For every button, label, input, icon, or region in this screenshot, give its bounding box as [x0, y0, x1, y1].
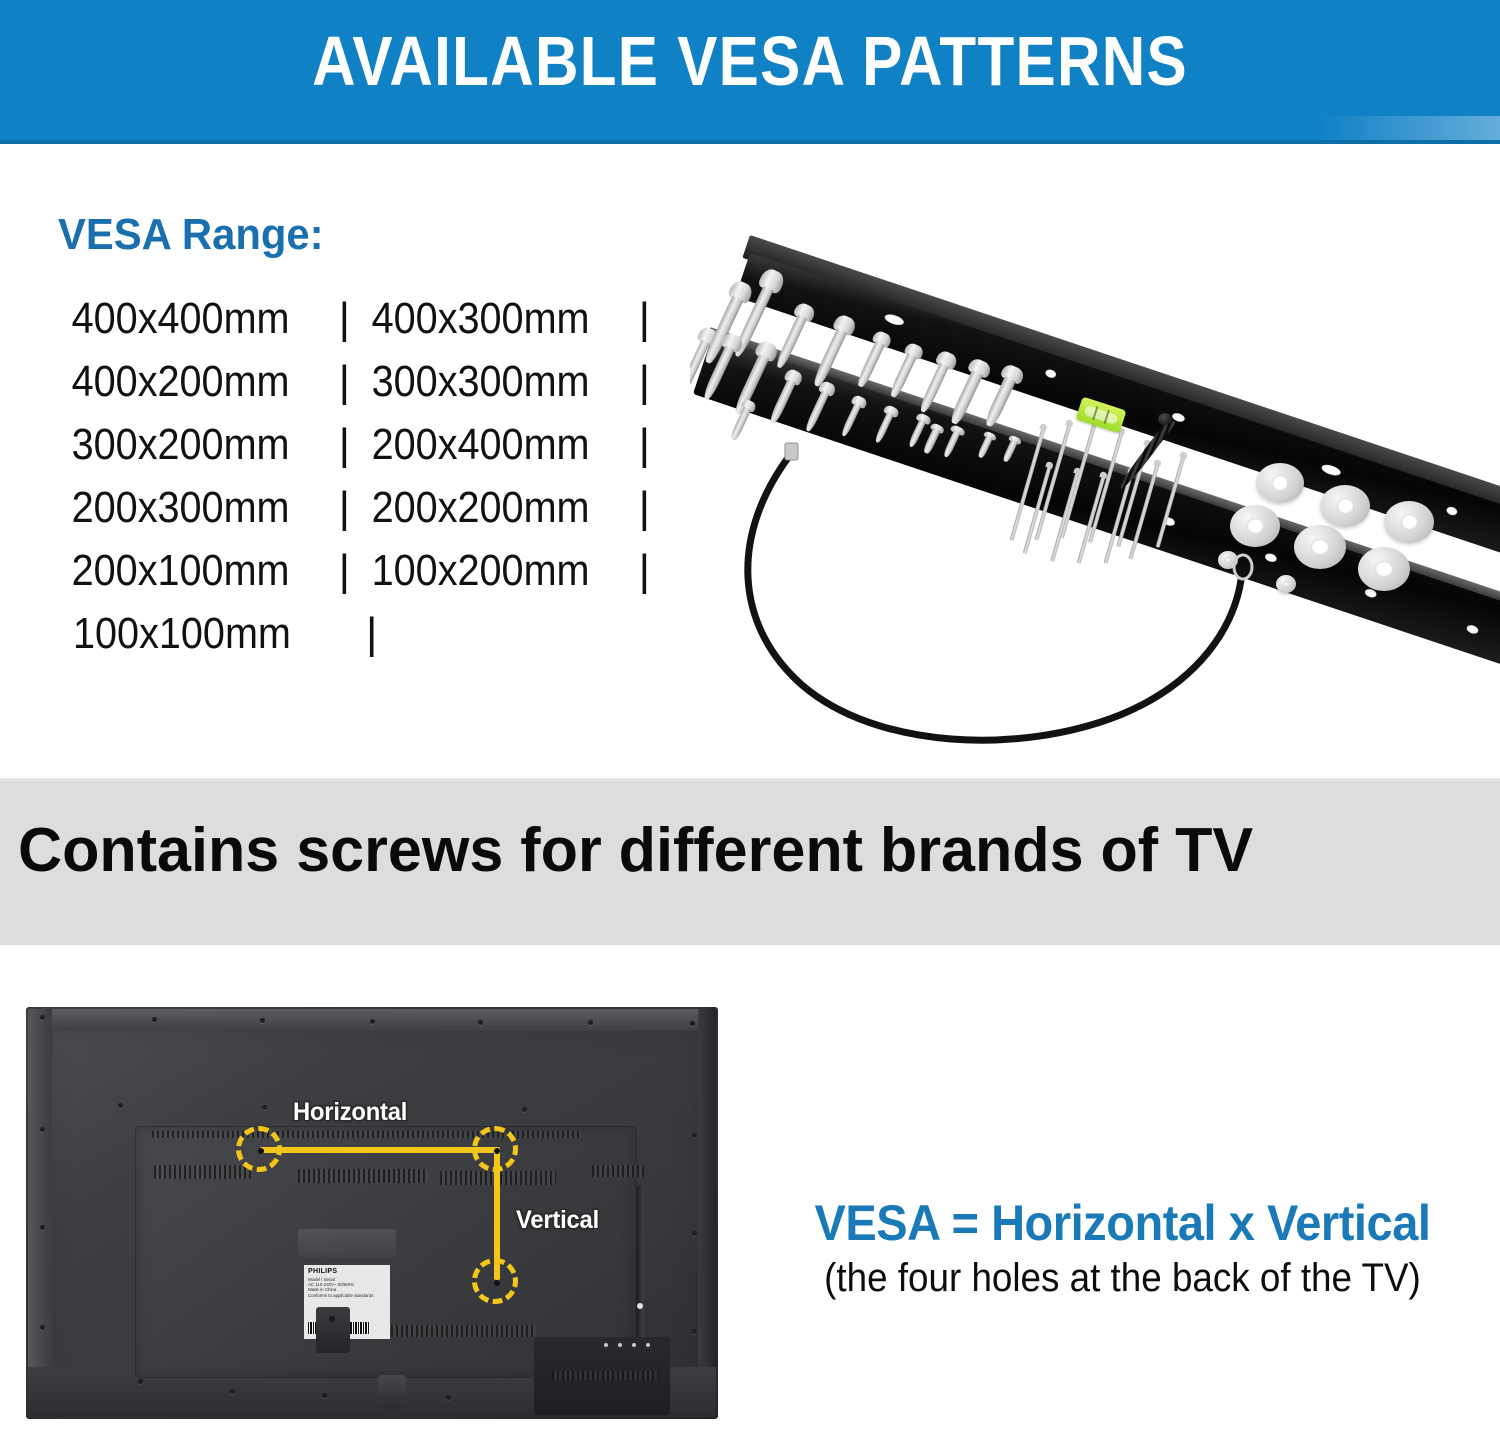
tv-frame-screw [446, 1395, 451, 1400]
tv-bezel-left [28, 1009, 52, 1417]
vesa-pattern-value: 200x200mm [372, 486, 617, 530]
vesa-separator: | [331, 483, 358, 533]
flat-washer [1320, 485, 1370, 527]
tv-frame-screw [692, 1231, 697, 1236]
tv-vent [592, 1165, 644, 1177]
tv-frame-screw [370, 1019, 375, 1024]
vesa-pattern-value: 400x300mm [372, 297, 617, 341]
vesa-separator: | [331, 546, 358, 596]
vesa-separator: | [631, 294, 658, 344]
header-banner: AVAILABLE VESA PATTERNS [0, 0, 1500, 144]
tv-vent [152, 1131, 582, 1138]
flat-washer [1294, 525, 1346, 569]
tv-io-indicator [632, 1343, 636, 1347]
rail-hole [1044, 368, 1057, 379]
tv-frame-screw [40, 1127, 45, 1132]
vesa-pattern-value: 400x400mm [72, 297, 317, 341]
rail-hole [1445, 506, 1458, 517]
vesa-formula-note: (the four holes at the back of the TV) [784, 1256, 1460, 1300]
small-washer [1276, 575, 1296, 593]
flat-washer [1384, 501, 1434, 543]
vesa-pattern-value: 100x100mm [73, 612, 343, 656]
tv-frame-screw [522, 1107, 527, 1112]
vesa-hole-top-right [472, 1126, 518, 1172]
vesa-pattern-value: 200x300mm [72, 486, 317, 530]
vertical-label: Vertical [516, 1206, 599, 1235]
wood-screw-head [1158, 413, 1172, 425]
vesa-separator: | [631, 483, 658, 533]
screws-banner-text: Contains screws for different brands of … [18, 817, 1253, 885]
vesa-pattern-list: 400x400mm | 400x300mm | 400x200mm | 300x… [58, 294, 658, 672]
tv-frame-screw [692, 1329, 697, 1334]
vesa-separator: | [631, 546, 658, 596]
vesa-pattern-row: 400x400mm | 400x300mm | [58, 294, 658, 357]
vesa-pattern-value: 200x100mm [72, 549, 317, 593]
tv-spec-text: Conforms to applicable standards [308, 1293, 386, 1298]
vesa-pattern-value: 300x300mm [372, 360, 617, 404]
vesa-pattern-value: 300x200mm [72, 423, 317, 467]
tv-io-indicator [646, 1343, 650, 1347]
tv-frame-screw [478, 1020, 483, 1025]
tv-frame-screw [322, 1393, 327, 1398]
rail-hole [1320, 463, 1342, 478]
tv-io-indicator [604, 1343, 608, 1347]
vesa-range-section: VESA Range: 400x400mm | 400x300mm | 400x… [58, 210, 678, 672]
vesa-pattern-value: 400x200mm [72, 360, 317, 404]
vesa-range-heading: VESA Range: [58, 210, 647, 260]
vesa-separator: | [331, 294, 358, 344]
tv-frame-screw [40, 1225, 45, 1230]
tv-frame-screw [588, 1020, 593, 1025]
tv-frame-screw [692, 1133, 697, 1138]
vesa-separator: | [631, 357, 658, 407]
tv-back-panel-diagram: PHILIPS Model / Serial AC 110-240V~ 50/6… [8, 980, 748, 1435]
vesa-hole-top-left [236, 1126, 282, 1172]
tv-chassis: PHILIPS Model / Serial AC 110-240V~ 50/6… [26, 1007, 718, 1419]
tv-vent [298, 1169, 428, 1183]
header-gloss-highlight [1320, 116, 1500, 140]
tv-info-plate [298, 1229, 396, 1257]
tv-frame-screw [230, 1389, 235, 1394]
tv-frame-screw [152, 1017, 157, 1022]
vesa-hole-bottom-right [472, 1258, 518, 1304]
flat-washer [1230, 505, 1280, 547]
tv-io-panel [534, 1337, 670, 1415]
tv-stand-notch [378, 1375, 406, 1409]
flat-washer [1256, 463, 1304, 503]
vesa-pattern-row: 300x200mm | 200x400mm | [58, 420, 658, 483]
tv-frame-screw [260, 1018, 265, 1023]
rail-hole [1264, 552, 1278, 563]
machine-screw [884, 341, 925, 401]
vesa-pattern-row: 100x100mm | [58, 609, 658, 672]
tv-io-slots [552, 1371, 658, 1380]
vesa-separator: | [331, 420, 358, 470]
tv-stand-socket [316, 1307, 350, 1353]
tv-vent [154, 1165, 252, 1179]
vesa-pattern-row: 200x300mm | 200x200mm | [58, 483, 658, 546]
hardware-kit-photo [690, 175, 1500, 745]
vesa-formula-main: VESA = Horizontal x Vertical [777, 1196, 1468, 1250]
page-title: AVAILABLE VESA PATTERNS [105, 26, 1395, 96]
tv-frame-screw [138, 1379, 143, 1384]
vesa-pattern-value: 100x200mm [372, 549, 617, 593]
tv-io-indicator [618, 1343, 622, 1347]
vesa-horizontal-line [260, 1147, 498, 1153]
tv-frame-screw [40, 1015, 45, 1020]
tv-bezel-right [698, 1009, 716, 1417]
tv-frame-screw [262, 1105, 267, 1110]
rail-hole [883, 312, 905, 327]
vesa-pattern-row: 400x200mm | 300x300mm | [58, 357, 658, 420]
tv-frame-screw [40, 1325, 45, 1330]
small-washer [1218, 551, 1238, 569]
vesa-separator: | [331, 357, 358, 407]
vesa-separator: | [631, 420, 658, 470]
tv-brand-text: PHILIPS [308, 1268, 386, 1277]
screws-banner: Contains screws for different brands of … [0, 778, 1500, 945]
vesa-pattern-value: 200x400mm [372, 423, 617, 467]
tv-frame-screw [118, 1103, 123, 1108]
flat-washer [1358, 547, 1410, 591]
horizontal-label: Horizontal [293, 1098, 407, 1127]
rail-hole [1466, 624, 1480, 635]
vesa-pattern-row: 200x100mm | 100x200mm | [58, 546, 658, 609]
vesa-separator: | [358, 609, 385, 659]
tv-frame-screw [690, 1021, 695, 1026]
level-vial [1083, 405, 1118, 425]
vesa-formula-block: VESA = Horizontal x Vertical (the four h… [755, 1196, 1490, 1300]
